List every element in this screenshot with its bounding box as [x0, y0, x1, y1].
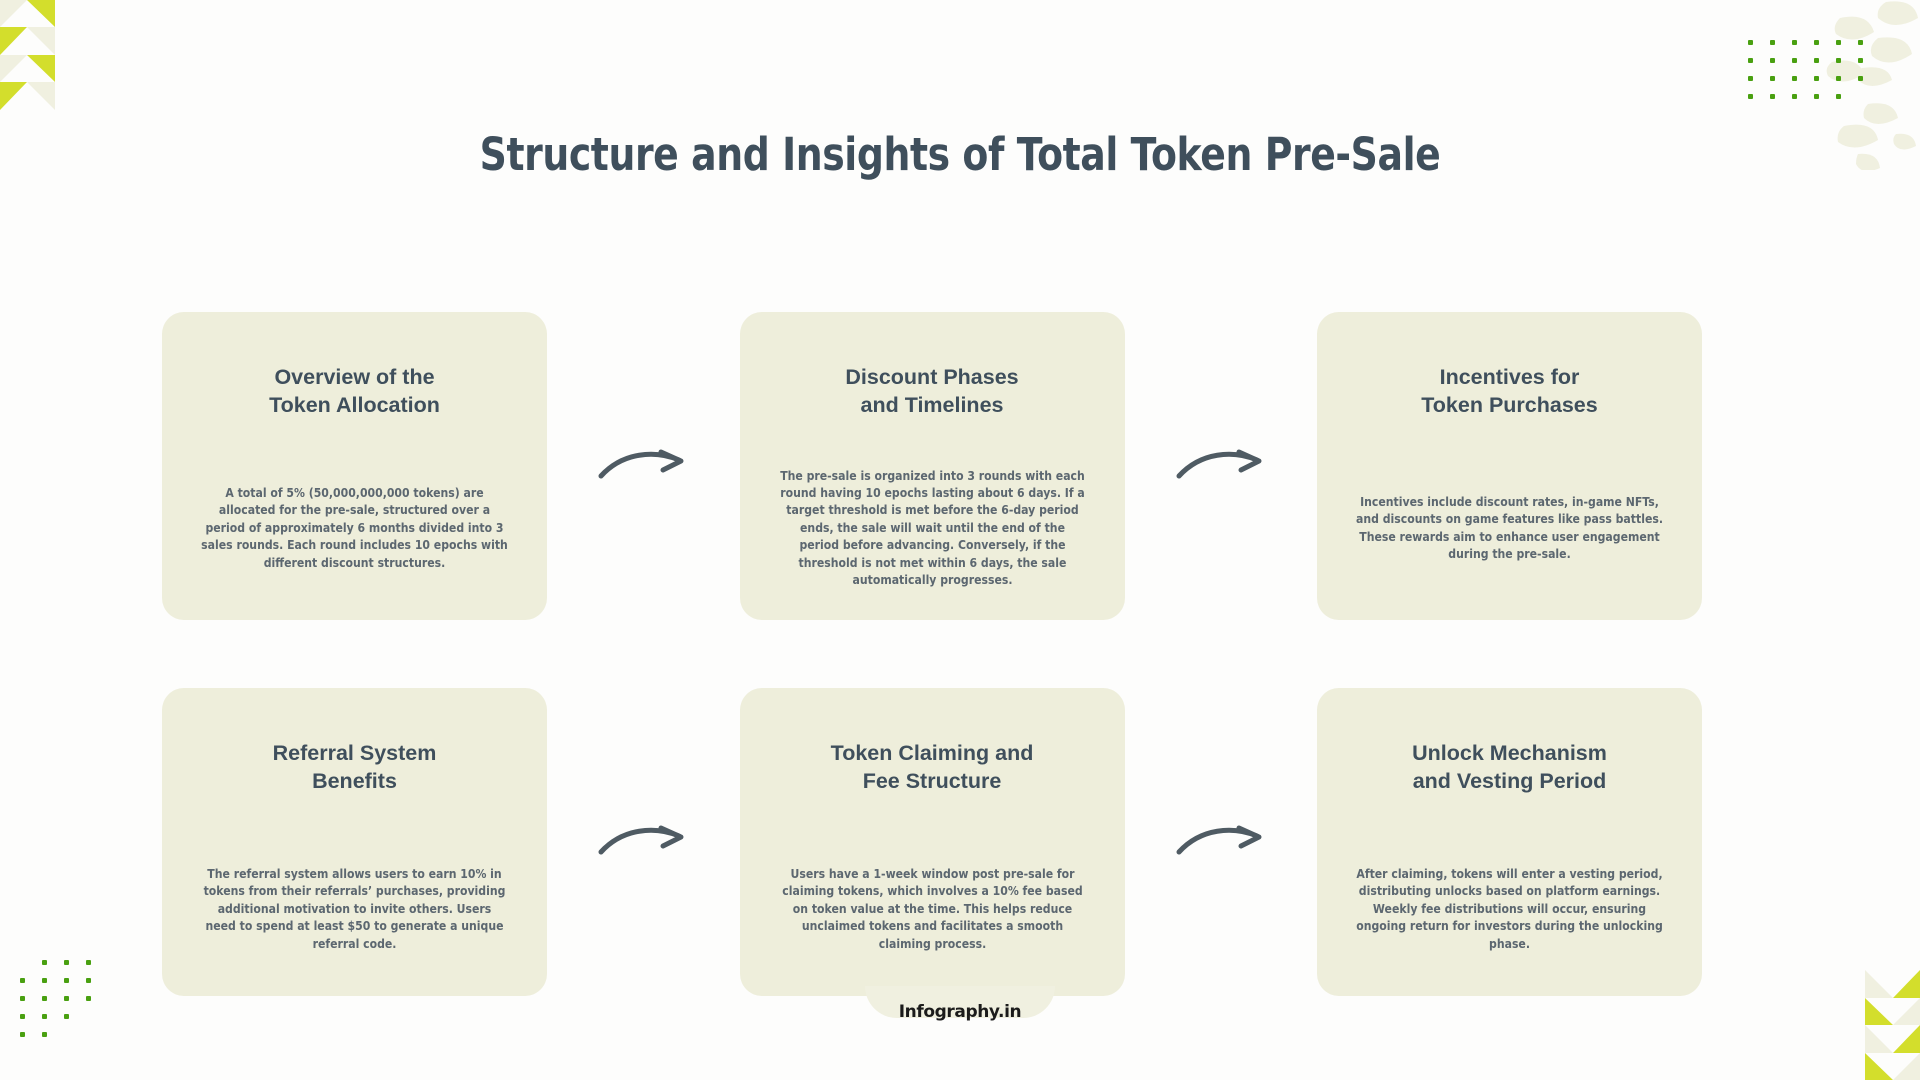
card-title: Token Claiming and Fee Structure [831, 740, 1034, 795]
triangle-pattern-bottom-right [1810, 970, 1920, 1080]
arrow-right-icon [597, 446, 689, 486]
arrow-3 [547, 688, 740, 996]
card-body: Incentives include discount rates, in-ga… [1356, 467, 1663, 572]
arrow-right-icon [1175, 446, 1267, 486]
card-title: Unlock Mechanism and Vesting Period [1412, 740, 1607, 795]
card-title: Discount Phases and Timelines [845, 364, 1018, 419]
card-title: Referral System Benefits [273, 740, 437, 795]
card-title: Overview of the Token Allocation [269, 364, 440, 419]
watermark-label: Infography.in [0, 1002, 1920, 1022]
leaf-cluster-top-right [1740, 0, 1920, 170]
arrow-right-icon [597, 822, 689, 862]
card-referral-system-benefits[interactable]: Referral System Benefits The referral sy… [162, 688, 547, 996]
card-discount-phases-timelines[interactable]: Discount Phases and Timelines The pre-sa… [740, 312, 1125, 620]
cards-grid: Overview of the Token Allocation A total… [162, 312, 1702, 996]
card-title: Incentives for Token Purchases [1421, 364, 1597, 419]
arrow-right-icon [1175, 822, 1267, 862]
card-incentives-token-purchases[interactable]: Incentives for Token Purchases Incentive… [1317, 312, 1702, 620]
card-body: The pre-sale is organized into 3 rounds … [778, 441, 1085, 599]
card-overview-token-allocation[interactable]: Overview of the Token Allocation A total… [162, 312, 547, 620]
card-body: After claiming, tokens will enter a vest… [1356, 839, 1663, 952]
card-body: Users have a 1-week window post pre-sale… [778, 839, 1085, 952]
page-title: Structure and Insights of Total Token Pr… [154, 128, 1767, 181]
card-body: A total of 5% (50,000,000,000 tokens) ar… [201, 458, 508, 581]
card-token-claiming-fee-structure[interactable]: Token Claiming and Fee Structure Users h… [740, 688, 1125, 996]
arrow-4 [1125, 688, 1318, 996]
arrow-1 [547, 312, 740, 620]
card-body: The referral system allows users to earn… [201, 839, 508, 952]
card-unlock-mechanism-vesting-period[interactable]: Unlock Mechanism and Vesting Period Afte… [1317, 688, 1702, 996]
arrow-2 [1125, 312, 1318, 620]
triangle-pattern-top-left [0, 0, 110, 110]
